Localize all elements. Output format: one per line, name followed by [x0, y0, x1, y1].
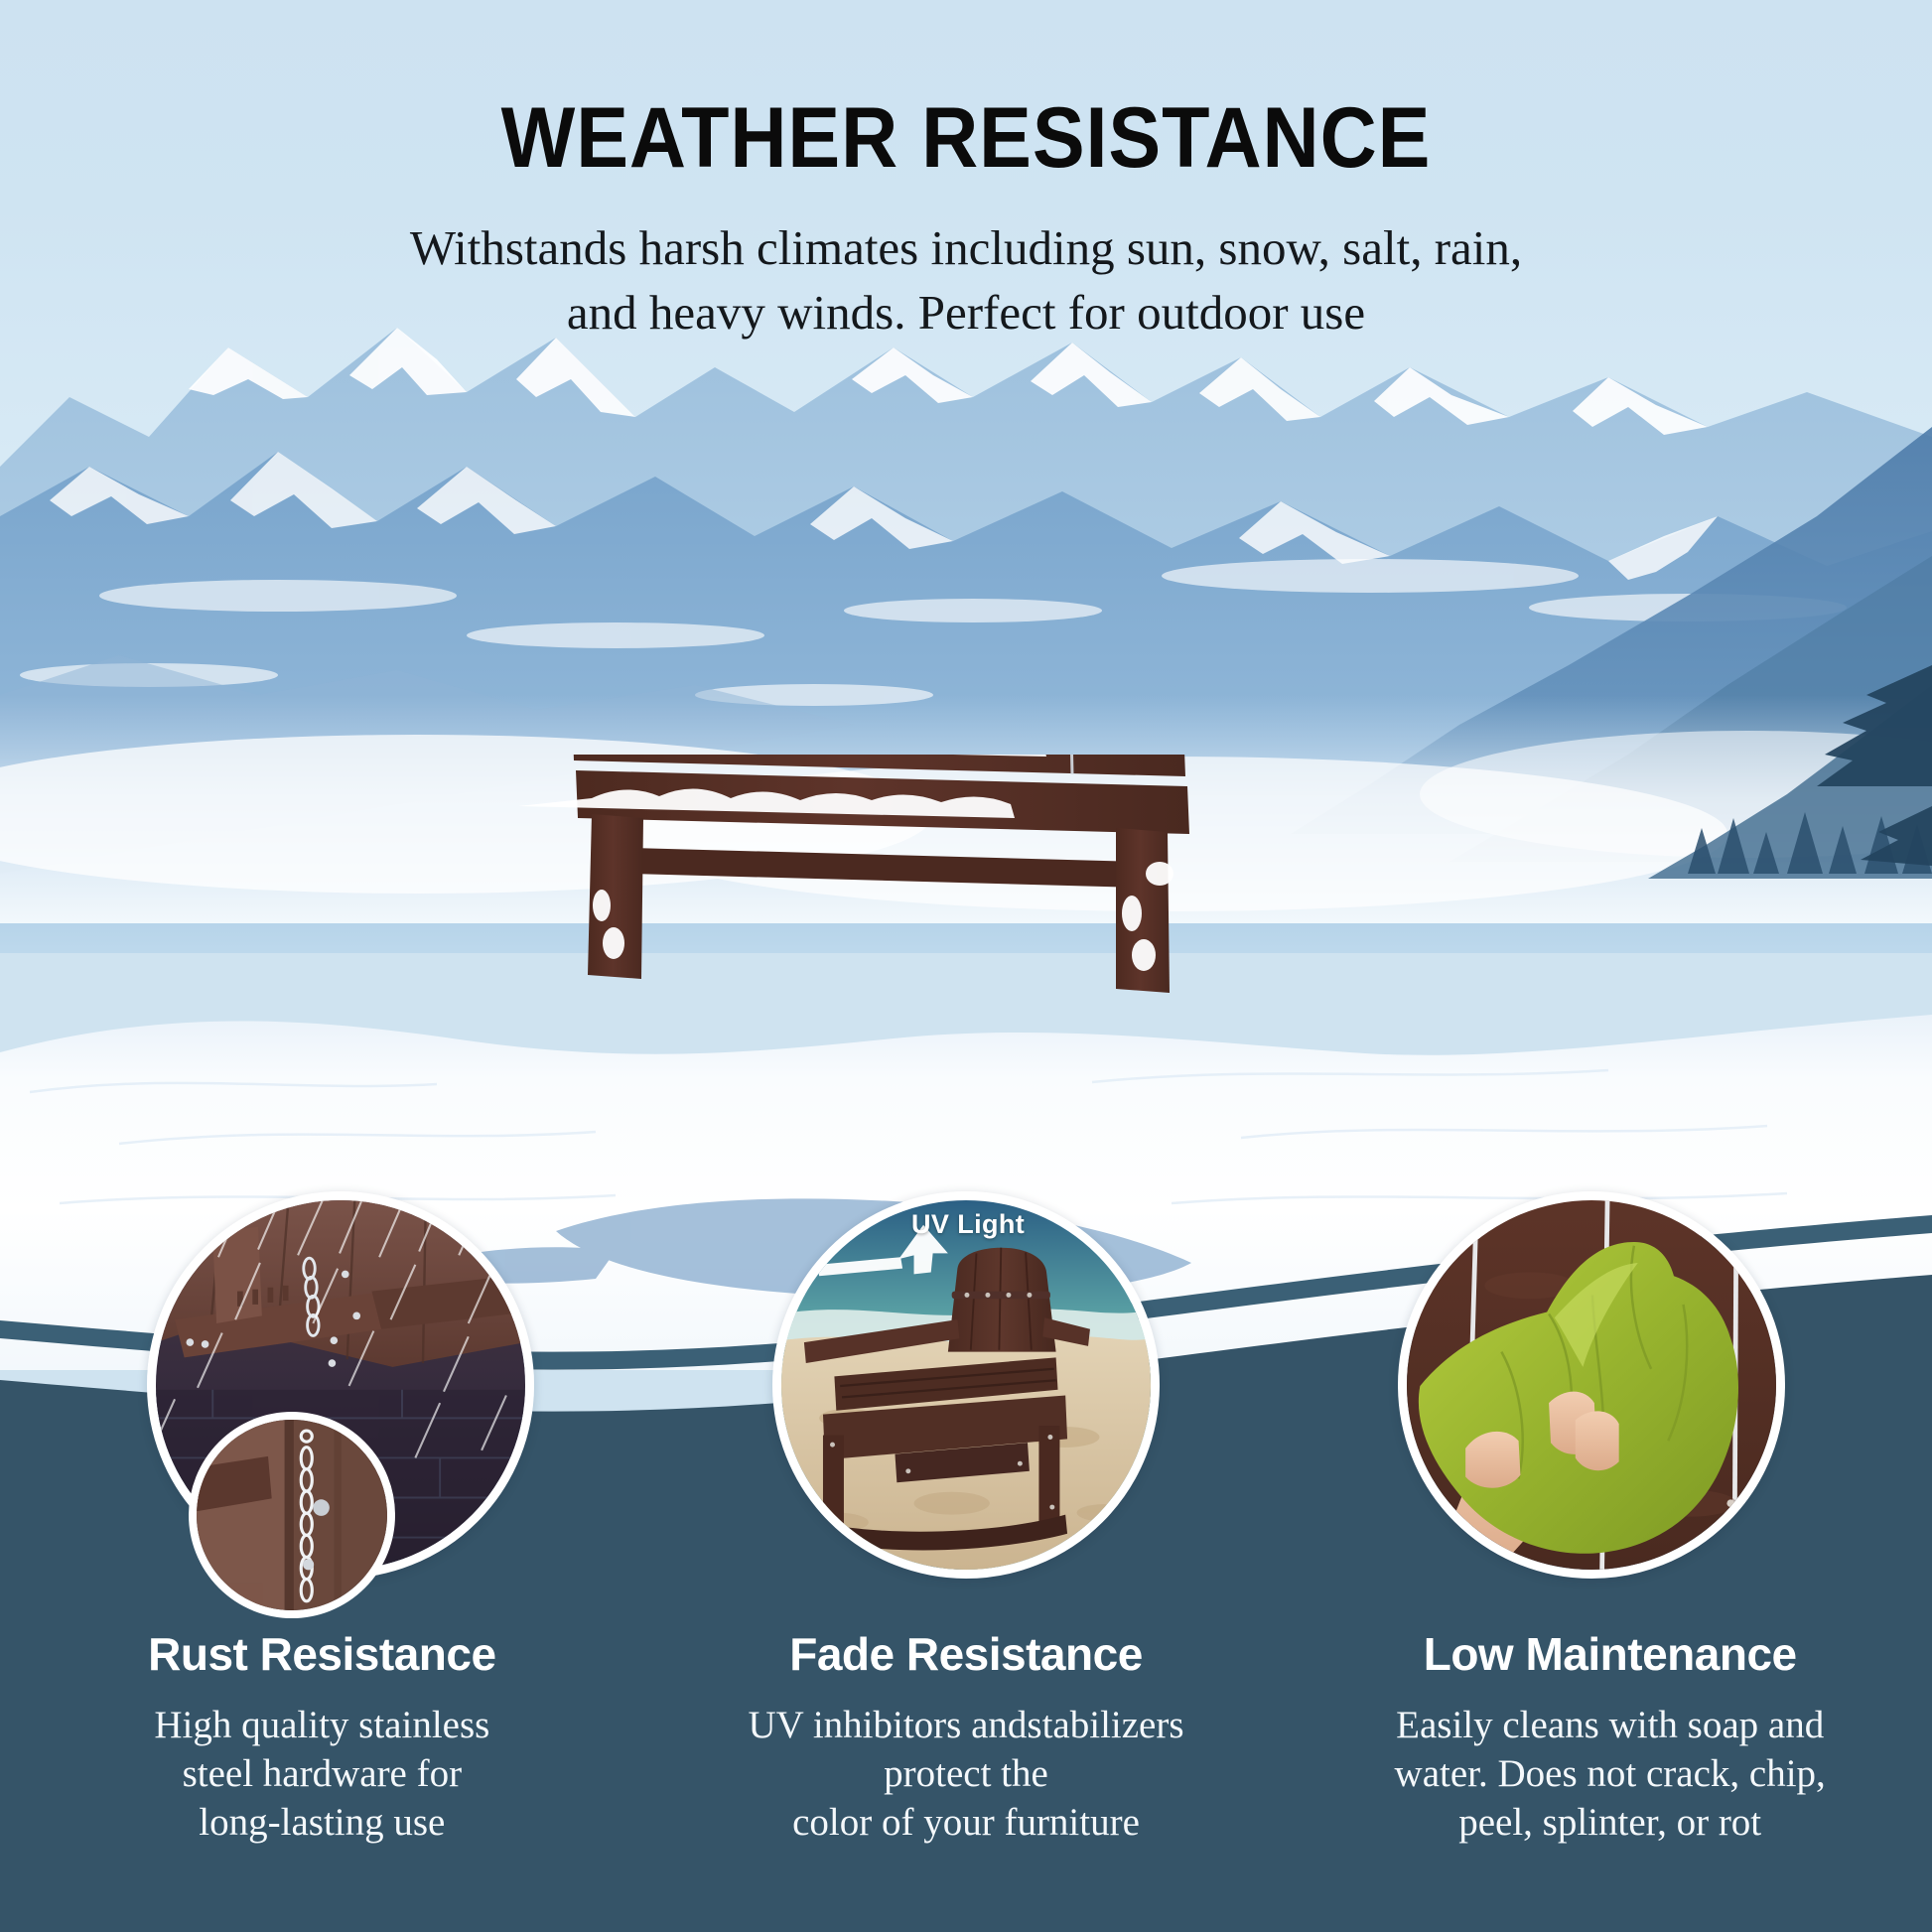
feature-body-fade-line-3: color of your furniture [672, 1798, 1261, 1847]
feature-title-low-maintenance: Low Maintenance [1315, 1628, 1904, 1681]
beach-chair-back [948, 1248, 1056, 1352]
feature-image-low-maintenance[interactable] [1398, 1191, 1785, 1579]
subtitle-line-1: Withstands harsh climates including sun,… [0, 216, 1932, 281]
uv-light-label: UV Light [911, 1209, 1025, 1240]
feature-body-rust-line-2: steel hardware for [28, 1749, 617, 1798]
feature-body-low-maintenance-line-1: Easily cleans with soap and [1315, 1701, 1904, 1749]
chain-closeup-illustration [197, 1420, 387, 1610]
feature-body-rust-line-1: High quality stainless [28, 1701, 617, 1749]
infographic-canvas: WEATHER RESISTANCE Withstands harsh clim… [0, 0, 1932, 1932]
feature-body-rust: High quality stainless steel hardware fo… [28, 1701, 617, 1847]
feature-body-fade-line-1: UV inhibitors andstabilizers [672, 1701, 1261, 1749]
chair-stretcher [631, 848, 1142, 888]
feature-title-fade: Fade Resistance [672, 1628, 1261, 1681]
feature-fade-resistance: Fade Resistance UV inhibitors andstabili… [644, 1628, 1289, 1932]
feature-body-fade-line-2: protect the [672, 1749, 1261, 1798]
beach-front-left-leg [823, 1436, 844, 1528]
feature-image-rust-inset[interactable] [189, 1412, 395, 1618]
adirondack-chair-snow [518, 755, 1243, 993]
thumb [1465, 1432, 1520, 1488]
page-subtitle: Withstands harsh climates including sun,… [0, 216, 1932, 345]
feature-rust-resistance: Rust Resistance High quality stainless s… [0, 1628, 644, 1932]
feature-body-rust-line-3: long-lasting use [28, 1798, 617, 1847]
feature-body-low-maintenance-line-2: water. Does not crack, chip, [1315, 1749, 1904, 1798]
feature-body-low-maintenance-line-3: peel, splinter, or rot [1315, 1798, 1904, 1847]
header-block: WEATHER RESISTANCE Withstands harsh clim… [0, 0, 1932, 345]
feature-low-maintenance: Low Maintenance Easily cleans with soap … [1288, 1628, 1932, 1932]
inset-screw [303, 1559, 314, 1570]
features-text-row: Rust Resistance High quality stainless s… [0, 1628, 1932, 1932]
beach-front-right-leg [1038, 1426, 1059, 1522]
cleaning-cloth-illustration [1407, 1200, 1776, 1570]
page-title: WEATHER RESISTANCE [77, 95, 1855, 181]
feature-title-rust: Rust Resistance [28, 1628, 617, 1681]
slat-screw [1726, 1499, 1734, 1507]
feature-body-fade: UV inhibitors andstabilizers protect the… [672, 1701, 1261, 1847]
inset-ball-fitting [313, 1499, 330, 1516]
beach-chair-illustration [781, 1200, 1151, 1570]
feature-image-fade-resistance[interactable] [772, 1191, 1160, 1579]
subtitle-line-2: and heavy winds. Perfect for outdoor use [0, 281, 1932, 345]
feature-body-low-maintenance: Easily cleans with soap and water. Does … [1315, 1701, 1904, 1847]
